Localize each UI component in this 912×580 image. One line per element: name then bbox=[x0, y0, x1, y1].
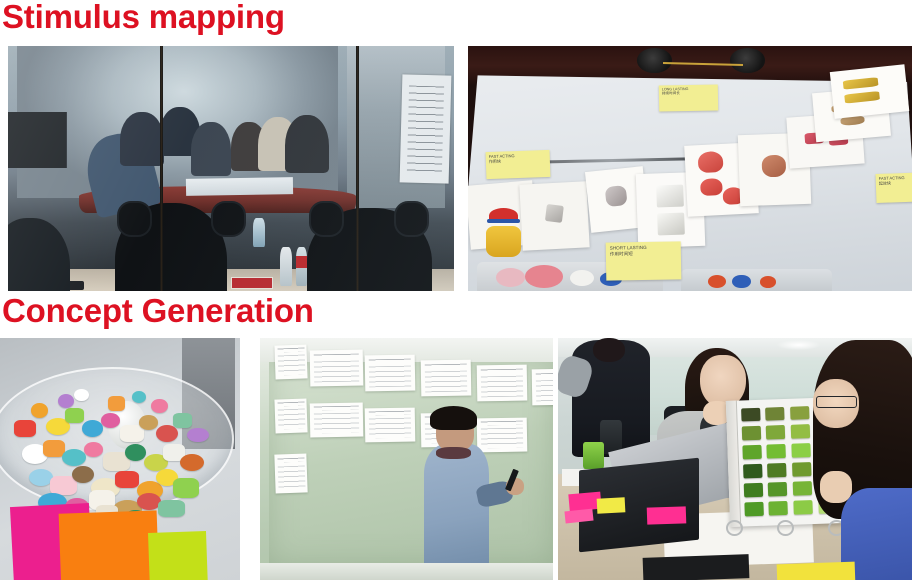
colour-swatch bbox=[792, 462, 812, 476]
photo-poster-wall bbox=[260, 338, 553, 580]
water-bottle-front-1 bbox=[280, 247, 292, 286]
table-papers bbox=[186, 177, 293, 196]
concept-sheet bbox=[274, 454, 308, 494]
photo-pill-bowl bbox=[0, 338, 240, 580]
sticky-note-fast-acting-right: FAST ACTING 起效快 bbox=[876, 172, 912, 203]
water-bottle-table bbox=[253, 218, 265, 247]
toy-figurine bbox=[486, 208, 522, 257]
sample-hex-bottom bbox=[657, 213, 684, 236]
sample-brown-oval bbox=[761, 155, 786, 177]
pill-sample bbox=[65, 408, 84, 423]
photo-sample-table: LONG LASTING 持续时间长 FAST ACTING 作用快 SHORT… bbox=[468, 46, 912, 291]
photo-poster-wall-content bbox=[260, 338, 553, 580]
headphone-left-cup bbox=[117, 201, 152, 237]
ceiling-light bbox=[777, 340, 819, 350]
binder-ring bbox=[777, 520, 794, 536]
red-notebook bbox=[231, 277, 273, 289]
sticky-note-line-2: 起效快 bbox=[879, 179, 912, 186]
sample-grey-oval bbox=[605, 185, 628, 207]
pill-sample bbox=[31, 403, 48, 418]
pill-orange-1 bbox=[708, 275, 726, 288]
photo-sample-table-content: LONG LASTING 持续时间长 FAST ACTING 作用快 SHORT… bbox=[468, 46, 912, 291]
colour-swatch bbox=[793, 500, 813, 514]
participant-2-glasses bbox=[816, 396, 857, 408]
concept-sheet bbox=[310, 403, 363, 438]
concept-sheet bbox=[309, 350, 362, 387]
pill-pink-2 bbox=[525, 265, 562, 288]
toy-body bbox=[486, 226, 522, 256]
pill-sample bbox=[120, 425, 144, 442]
sample-grey-square bbox=[545, 205, 564, 224]
colour-swatch bbox=[791, 443, 811, 457]
colour-swatch bbox=[768, 482, 788, 496]
colour-swatch bbox=[793, 481, 813, 495]
page-title-concept-generation: Concept Generation bbox=[2, 293, 314, 329]
pill-sample bbox=[101, 413, 120, 428]
binder-ring bbox=[726, 520, 743, 536]
yellow-document bbox=[777, 562, 856, 580]
concept-sheet bbox=[421, 359, 471, 396]
sticky-note-short-lasting: SHORT LASTING 作用时间短 bbox=[605, 241, 680, 280]
pill-pink-1 bbox=[496, 268, 526, 287]
concept-sheet bbox=[532, 369, 553, 406]
slide-canvas: Stimulus mapping bbox=[0, 0, 912, 580]
pill-sample bbox=[173, 413, 192, 428]
colour-swatch bbox=[743, 483, 763, 497]
colour-swatch bbox=[765, 406, 785, 420]
pill-sample bbox=[173, 478, 199, 497]
water-bottle-front-2 bbox=[296, 247, 308, 286]
sample-card-9 bbox=[830, 64, 910, 118]
colour-swatch bbox=[744, 502, 764, 516]
sample-hex-top bbox=[656, 185, 683, 208]
page-title-stimulus-mapping: Stimulus mapping bbox=[2, 0, 285, 35]
sample-red-triangle-1 bbox=[697, 151, 724, 174]
pill-sample bbox=[137, 493, 161, 510]
sample-card-2 bbox=[520, 181, 590, 251]
photo-color-review-content bbox=[558, 338, 912, 580]
strip-swatch bbox=[562, 469, 571, 486]
pill-sample bbox=[74, 389, 88, 401]
sticky-note-line-2: 持续时间长 bbox=[662, 91, 715, 96]
sample-gold-bar-1 bbox=[843, 77, 878, 89]
speaker-right bbox=[730, 48, 766, 73]
soda-can bbox=[583, 442, 604, 469]
colour-swatch bbox=[790, 405, 810, 419]
sticky-pad-lime bbox=[148, 531, 208, 580]
glass-mullion-1 bbox=[160, 46, 163, 291]
sticky-note-line-2: 作用时间短 bbox=[609, 250, 676, 257]
binder-rings bbox=[721, 520, 848, 532]
floor-strip bbox=[260, 563, 553, 580]
concept-sheet bbox=[476, 364, 526, 401]
colour-swatch bbox=[741, 426, 761, 440]
wall-monitor bbox=[8, 112, 67, 168]
sample-gold-bar-2 bbox=[844, 91, 879, 103]
pill-orange-2 bbox=[760, 276, 777, 288]
participant-2-hand bbox=[820, 471, 852, 502]
colour-swatch bbox=[767, 444, 787, 458]
headphone-left-cup-2 bbox=[309, 201, 344, 237]
pill-sample bbox=[151, 399, 168, 414]
photo-color-review bbox=[558, 338, 912, 580]
standing-person-head bbox=[593, 338, 625, 362]
pill-sample bbox=[187, 428, 209, 443]
black-portfolio bbox=[643, 554, 750, 580]
concept-sheet bbox=[274, 345, 307, 380]
flipchart-sheet bbox=[399, 75, 451, 184]
pill-sample bbox=[29, 469, 53, 486]
pill-sample bbox=[180, 454, 204, 471]
toy-hat bbox=[489, 208, 519, 224]
pill-sample bbox=[72, 466, 94, 483]
participant-2 bbox=[120, 112, 165, 166]
colour-swatch bbox=[741, 407, 761, 421]
concept-sheet bbox=[365, 408, 415, 443]
sticky-pad-orange bbox=[59, 511, 160, 580]
pill-bag-right bbox=[681, 269, 832, 291]
pill-sample bbox=[156, 425, 178, 442]
speaker-left bbox=[637, 48, 673, 73]
concept-sheet bbox=[274, 398, 307, 433]
pill-sample bbox=[115, 471, 139, 488]
presenter-collar bbox=[436, 447, 471, 459]
sample-red-triangle-2 bbox=[700, 178, 722, 196]
colour-swatch bbox=[767, 463, 787, 477]
headphone-right-cup-2 bbox=[394, 201, 429, 237]
colour-swatch bbox=[743, 464, 763, 478]
sticky-note-pink-2 bbox=[646, 507, 686, 525]
sticky-note-line-2: 作用快 bbox=[489, 157, 547, 164]
participant-7 bbox=[285, 115, 330, 174]
sticky-note-yellow bbox=[597, 497, 626, 513]
participant-4 bbox=[191, 122, 231, 176]
pill-white-1 bbox=[570, 270, 594, 286]
pill-blue-2 bbox=[732, 275, 750, 288]
pill-sample bbox=[14, 420, 36, 437]
colour-swatch bbox=[791, 424, 811, 438]
photo-meeting-room bbox=[8, 46, 454, 291]
colour-swatch bbox=[769, 501, 789, 515]
glass-mullion-2 bbox=[356, 46, 359, 291]
presenter-hair bbox=[430, 406, 477, 430]
photo-pill-bowl-content bbox=[0, 338, 240, 580]
colour-swatch bbox=[742, 445, 762, 459]
presenter-body bbox=[424, 444, 488, 580]
concept-sheet bbox=[365, 355, 415, 392]
pill-sample bbox=[84, 442, 103, 457]
photo-meeting-room-content bbox=[8, 46, 454, 291]
pill-sample bbox=[158, 500, 184, 517]
concept-sheet bbox=[477, 417, 527, 452]
colour-swatch bbox=[766, 425, 786, 439]
sticky-note-fast-acting-left: FAST ACTING 作用快 bbox=[485, 150, 550, 179]
pill-sample bbox=[108, 396, 125, 411]
sticky-note-long-lasting: LONG LASTING 持续时间长 bbox=[659, 85, 719, 112]
headphone-right-cup bbox=[211, 201, 246, 237]
